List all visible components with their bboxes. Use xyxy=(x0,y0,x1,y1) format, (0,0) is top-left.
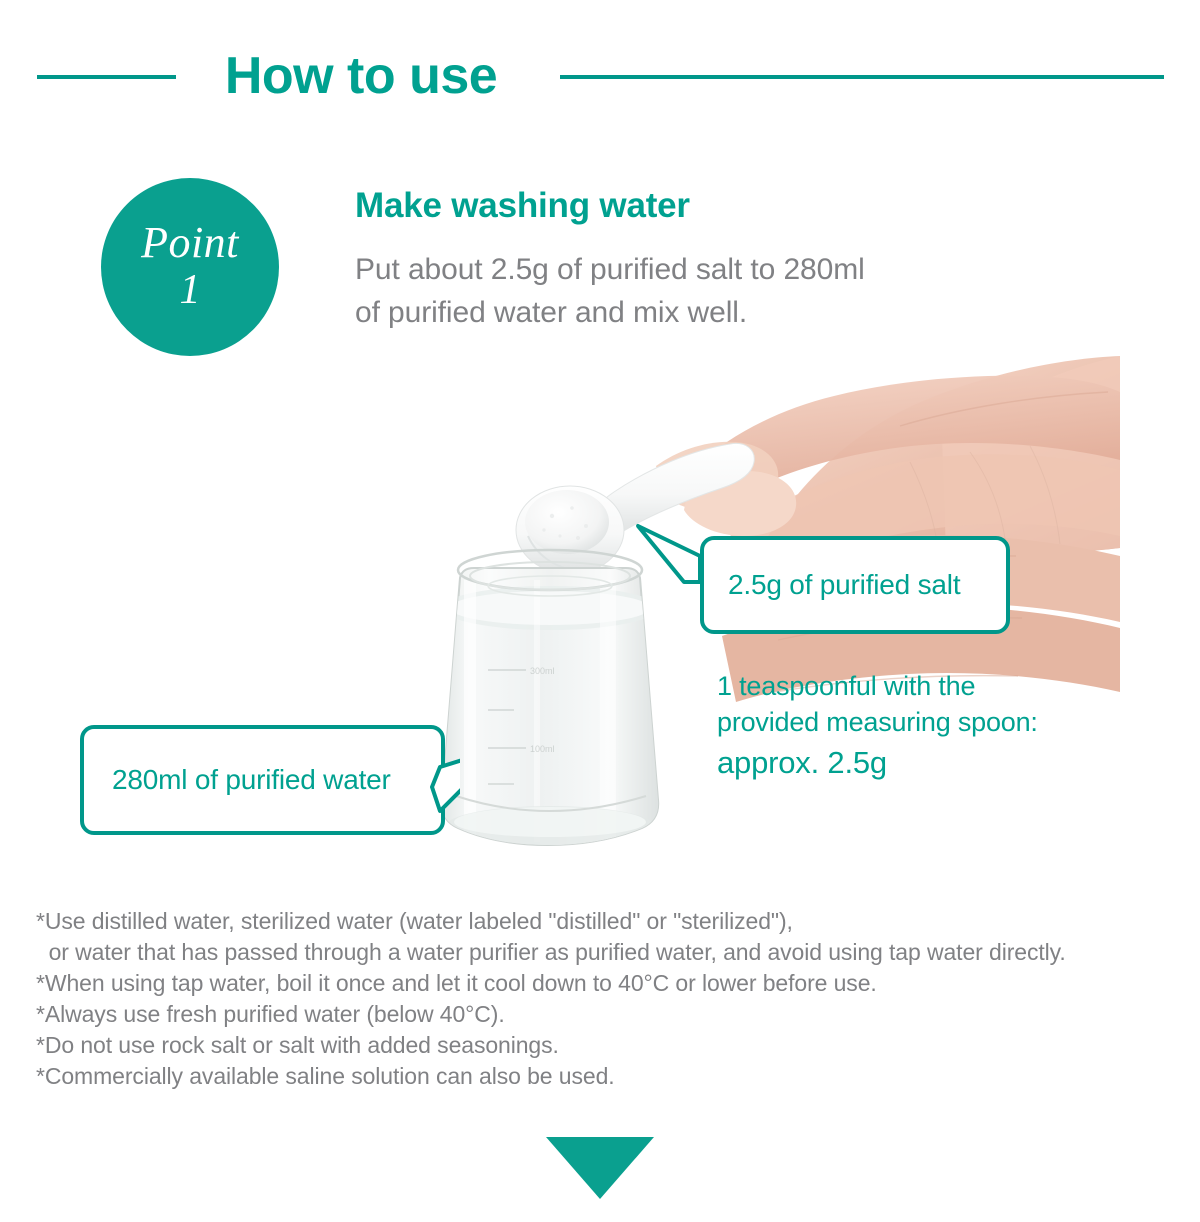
step-description-line-1: Put about 2.5g of purified salt to 280ml xyxy=(355,248,1055,291)
footnote-item: *Use distilled water, sterilized water (… xyxy=(36,906,1176,937)
footnote-item: *When using tap water, boil it once and … xyxy=(36,968,1176,999)
callout-salt: 2.5g of purified salt xyxy=(630,522,1010,634)
scroll-down-arrow-icon[interactable] xyxy=(546,1137,654,1199)
point-badge-number: 1 xyxy=(180,267,201,313)
footnote-item: *Commercially available saline solution … xyxy=(36,1061,1176,1092)
page-title: How to use xyxy=(196,36,526,116)
header-rule-right xyxy=(560,75,1164,79)
step-description: Put about 2.5g of purified salt to 280ml… xyxy=(355,248,1055,334)
spoon-note: 1 teaspoonful with the provided measurin… xyxy=(717,668,1157,784)
footnote-item: *Do not use rock salt or salt with added… xyxy=(36,1030,1176,1061)
footnote-item: or water that has passed through a water… xyxy=(36,937,1176,968)
callout-salt-box: 2.5g of purified salt xyxy=(700,536,1010,634)
svg-text:100ml: 100ml xyxy=(530,744,555,754)
footnote-item: *Always use fresh purified water (below … xyxy=(36,999,1176,1030)
step-title: Make washing water xyxy=(355,186,690,226)
callout-water: 280ml of purified water xyxy=(80,725,460,843)
point-badge-word: Point xyxy=(141,221,239,265)
point-badge: Point 1 xyxy=(101,178,279,356)
callout-water-pointer xyxy=(80,725,460,843)
page-header: How to use xyxy=(0,36,1200,118)
step-description-line-2: of purified water and mix well. xyxy=(355,291,1055,334)
spoon-note-line-1: 1 teaspoonful with the xyxy=(717,668,1157,704)
spoon-note-line-2: provided measuring spoon: xyxy=(717,704,1157,740)
svg-text:300ml: 300ml xyxy=(530,666,555,676)
footnotes: *Use distilled water, sterilized water (… xyxy=(36,906,1176,1092)
header-rule-left xyxy=(37,75,176,79)
callout-salt-label: 2.5g of purified salt xyxy=(728,569,960,601)
spoon-note-line-3: approx. 2.5g xyxy=(717,742,1157,784)
